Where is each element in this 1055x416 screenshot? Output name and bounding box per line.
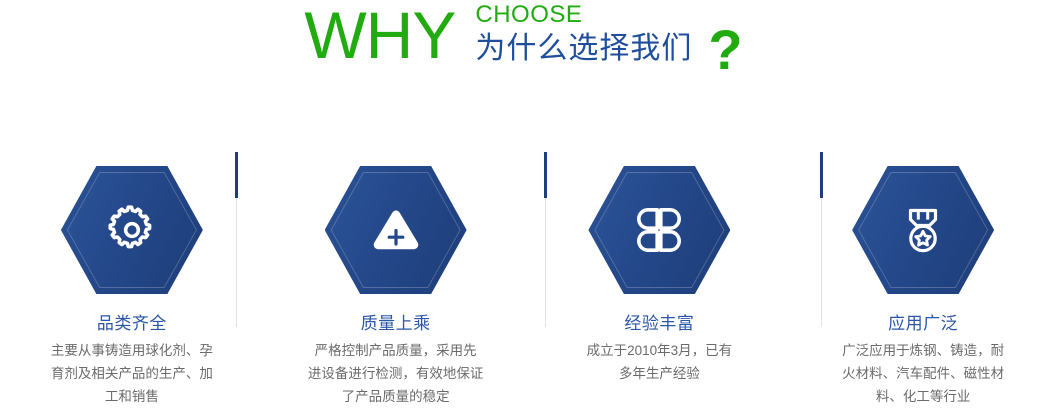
hexagon-badge-2 [325,166,467,294]
why-choose-us-section: WHY CHOOSE 为什么选择我们 ? [0,0,1055,416]
card-title: 品类齐全 [97,313,167,335]
card-desc-line: 料、化工等行业 [842,385,1004,408]
hexagon-badge-4 [852,166,994,294]
heading-chinese-title: 为什么选择我们 [475,30,692,68]
card-description: 广泛应用于炼钢、铸造，耐 火材料、汽车配件、磁性材 料、化工等行业 [842,339,1004,408]
feature-card-1[interactable]: 品类齐全 主要从事铸造用球化剂、孕 育剂及相关产品的生产、加 工和销售 [0,140,264,416]
card-desc-line: 广泛应用于炼钢、铸造，耐 [842,339,1004,362]
feature-card-4[interactable]: 应用广泛 广泛应用于炼钢、铸造，耐 火材料、汽车配件、磁性材 料、化工等行业 [791,140,1055,416]
feature-card-3[interactable]: 经验丰富 成立于2010年3月，已有 多年生产经验 [528,140,792,416]
card-desc-line: 火材料、汽车配件、磁性材 [842,362,1004,385]
card-title: 应用广泛 [888,313,958,335]
card-desc-line: 进设备进行检测，有效地保证 [308,362,484,385]
card-desc-line: 成立于2010年3月，已有 [587,339,733,362]
card-desc-line: 严格控制产品质量，采用先 [308,339,484,362]
feature-card-2[interactable]: 质量上乘 严格控制产品质量，采用先 进设备进行检测，有效地保证 了产品质量的稳定 [264,140,528,416]
section-heading: WHY CHOOSE 为什么选择我们 ? [0,0,1055,96]
card-desc-line: 育剂及相关产品的生产、加 [51,362,213,385]
card-description: 成立于2010年3月，已有 多年生产经验 [587,339,733,385]
card-desc-line: 多年生产经验 [587,362,733,385]
triangle-plus-icon [325,166,467,294]
card-title: 质量上乘 [361,313,431,335]
hexagon-badge-3 [588,166,730,294]
heading-text-stack: CHOOSE 为什么选择我们 [475,0,692,68]
heading-question-mark: ? [708,22,742,78]
heading-choose: CHOOSE [475,2,692,28]
card-desc-line: 工和销售 [51,385,213,408]
card-description: 严格控制产品质量，采用先 进设备进行检测，有效地保证 了产品质量的稳定 [308,339,484,408]
heading-why: WHY [304,0,455,70]
clover-icon [588,166,730,294]
feature-card-row: 品类齐全 主要从事铸造用球化剂、孕 育剂及相关产品的生产、加 工和销售 [0,140,1055,416]
gear-icon [61,166,203,294]
card-desc-line: 了产品质量的稳定 [308,385,484,408]
hexagon-badge-1 [61,166,203,294]
card-description: 主要从事铸造用球化剂、孕 育剂及相关产品的生产、加 工和销售 [51,339,213,408]
card-desc-line: 主要从事铸造用球化剂、孕 [51,339,213,362]
card-title: 经验丰富 [624,313,694,335]
medal-icon [852,166,994,294]
